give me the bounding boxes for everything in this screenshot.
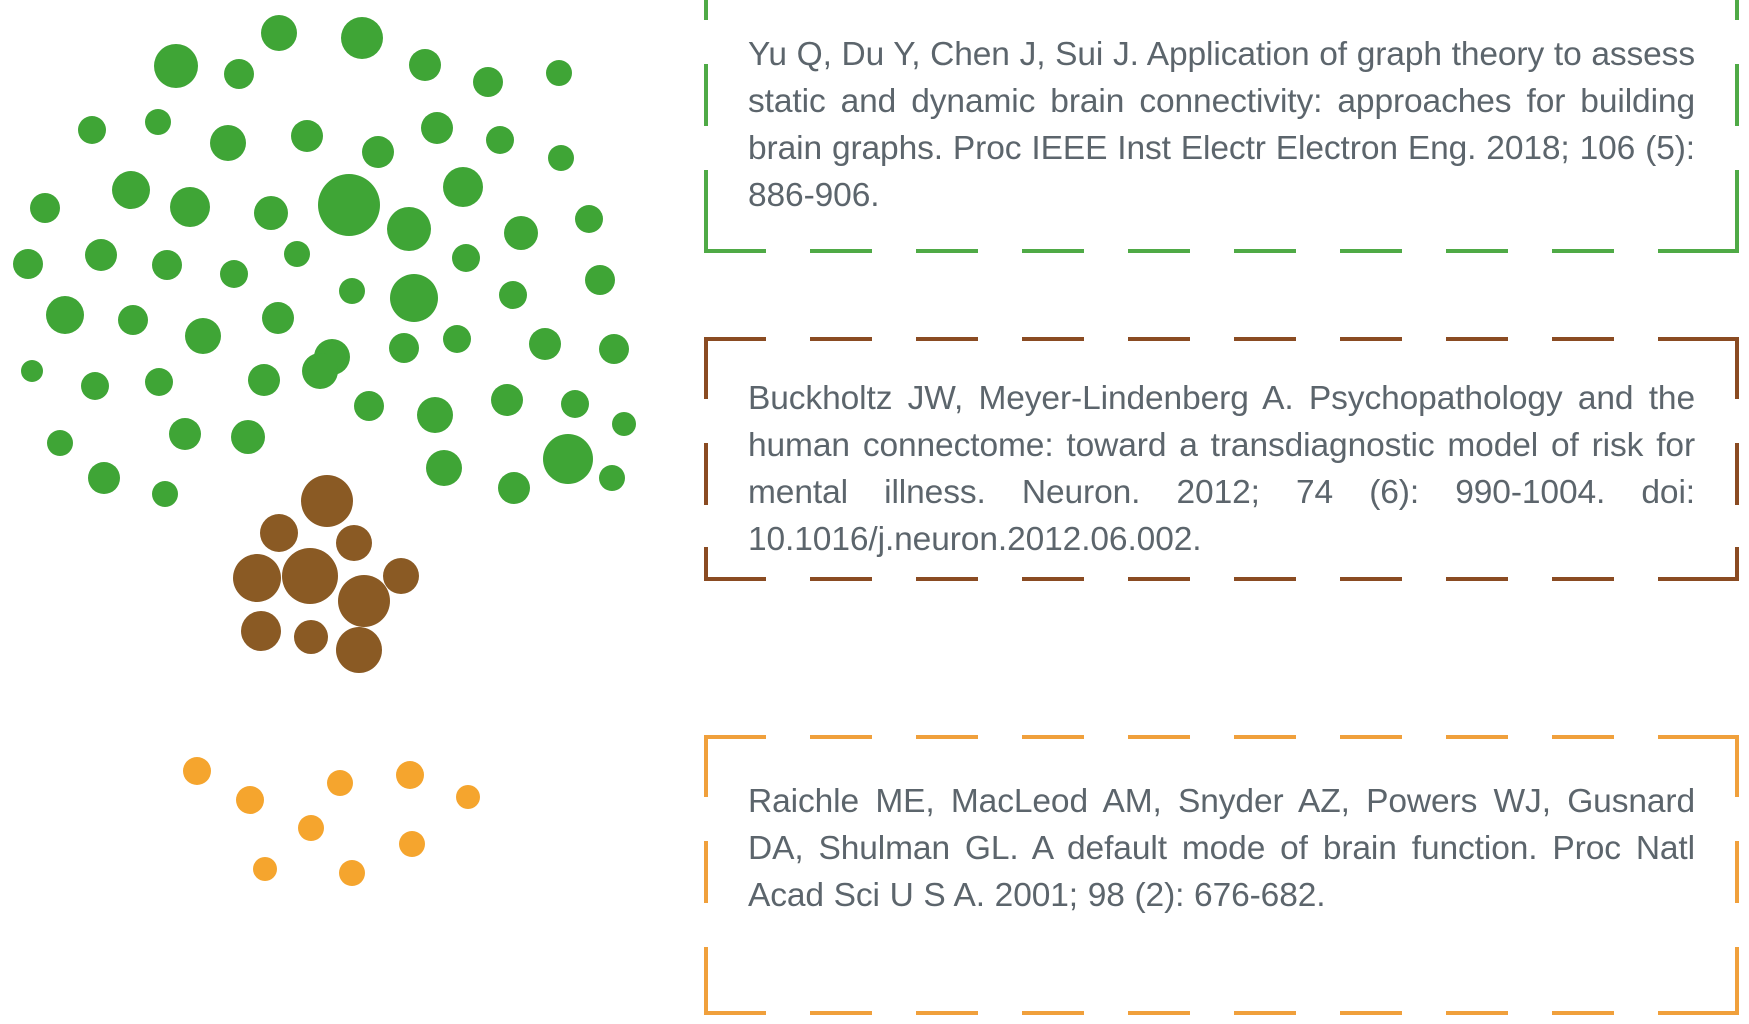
cluster-dot <box>88 462 120 494</box>
cluster-dot <box>421 112 453 144</box>
frame-edge-bottom <box>704 1011 1739 1015</box>
cluster-dot <box>339 278 365 304</box>
citation-card-green: Yu Q, Du Y, Chen J, Sui J. Application o… <box>704 0 1739 253</box>
cluster-dot <box>185 318 221 354</box>
orange-cluster-group <box>183 757 480 886</box>
cluster-dot <box>504 216 538 250</box>
cluster-dot <box>354 391 384 421</box>
cluster-dot <box>21 360 43 382</box>
cluster-dot <box>301 475 353 527</box>
cluster-dot <box>498 472 530 504</box>
green-cluster-group <box>13 15 636 507</box>
cluster-dot <box>236 786 264 814</box>
cluster-dot <box>599 334 629 364</box>
cluster-dot <box>341 17 383 59</box>
frame-corner-bottom-right <box>1705 219 1739 253</box>
cluster-dot <box>169 418 201 450</box>
cluster-dot <box>284 241 310 267</box>
dot-cluster-panel <box>0 0 690 1024</box>
brown-cluster-group <box>233 475 419 673</box>
cluster-dot <box>417 397 453 433</box>
cluster-dot <box>456 785 480 809</box>
cluster-dot <box>118 305 148 335</box>
cluster-dot <box>261 15 297 51</box>
cluster-dot <box>362 136 394 168</box>
cluster-dot <box>612 412 636 436</box>
cluster-dot <box>548 145 574 171</box>
cluster-dot <box>145 109 171 135</box>
cluster-dot <box>282 548 338 604</box>
cluster-dot <box>561 390 589 418</box>
cluster-dot <box>220 260 248 288</box>
cluster-dot <box>336 627 382 673</box>
cluster-dot <box>383 558 419 594</box>
frame-corner-bottom-right <box>1705 981 1739 1015</box>
cluster-dot <box>529 328 561 360</box>
cluster-dot <box>47 430 73 456</box>
cluster-dot <box>248 364 280 396</box>
cluster-dot <box>231 420 265 454</box>
cluster-dot <box>78 116 106 144</box>
cluster-dot <box>254 196 288 230</box>
cluster-dot <box>599 465 625 491</box>
cluster-dot <box>85 239 117 271</box>
cluster-dot <box>298 815 324 841</box>
cluster-dot <box>585 265 615 295</box>
citation-text-orange: Raichle ME, MacLeod AM, Snyder AZ, Power… <box>704 735 1739 919</box>
cluster-dot <box>152 250 182 280</box>
frame-edge-bottom <box>704 249 1739 253</box>
cluster-dot <box>210 125 246 161</box>
dot-cluster-chart <box>0 0 690 1024</box>
cluster-dot <box>13 249 43 279</box>
cluster-dot <box>399 831 425 857</box>
cluster-dot <box>491 384 523 416</box>
cluster-dot <box>443 167 483 207</box>
cluster-dot <box>327 770 353 796</box>
cluster-dot <box>336 525 372 561</box>
cluster-dot <box>389 333 419 363</box>
cluster-dot <box>387 207 431 251</box>
cluster-dot <box>486 126 514 154</box>
frame-corner-bottom-left <box>704 981 738 1015</box>
cluster-dot <box>145 368 173 396</box>
cluster-dot <box>294 620 328 654</box>
cluster-dot <box>338 575 390 627</box>
cluster-dot <box>291 120 323 152</box>
cluster-dot <box>443 325 471 353</box>
cluster-dot <box>318 174 380 236</box>
cluster-dot <box>152 481 178 507</box>
cluster-dot <box>253 857 277 881</box>
cluster-dot <box>499 281 527 309</box>
cluster-dot <box>30 193 60 223</box>
frame-corner-bottom-left <box>704 219 738 253</box>
cluster-dot <box>262 302 294 334</box>
cluster-dot <box>233 554 281 602</box>
cluster-dot <box>154 44 198 88</box>
frame-edge-bottom <box>704 577 1739 581</box>
cluster-dot <box>302 353 338 389</box>
cluster-dot <box>426 450 462 486</box>
cluster-dot <box>575 205 603 233</box>
cluster-dot <box>260 514 298 552</box>
cluster-dot <box>170 187 210 227</box>
citation-card-brown: Buckholtz JW, Meyer-Lindenberg A. Psycho… <box>704 337 1739 581</box>
cluster-dot <box>409 49 441 81</box>
cluster-dot <box>183 757 211 785</box>
cluster-dot <box>339 860 365 886</box>
cluster-dot <box>546 60 572 86</box>
figure-root: Yu Q, Du Y, Chen J, Sui J. Application o… <box>0 0 1749 1024</box>
cluster-dot <box>112 171 150 209</box>
cluster-dot <box>224 59 254 89</box>
cluster-dot <box>543 434 593 484</box>
cluster-dot <box>390 274 438 322</box>
cluster-dot <box>473 67 503 97</box>
citation-column: Yu Q, Du Y, Chen J, Sui J. Application o… <box>690 0 1749 1024</box>
citation-text-green: Yu Q, Du Y, Chen J, Sui J. Application o… <box>704 0 1739 219</box>
cluster-dot <box>396 761 424 789</box>
cluster-dot <box>81 372 109 400</box>
cluster-dot <box>241 611 281 651</box>
cluster-dot <box>452 244 480 272</box>
citation-card-orange: Raichle ME, MacLeod AM, Snyder AZ, Power… <box>704 735 1739 1015</box>
citation-text-brown: Buckholtz JW, Meyer-Lindenberg A. Psycho… <box>704 337 1739 563</box>
cluster-dot <box>46 296 84 334</box>
